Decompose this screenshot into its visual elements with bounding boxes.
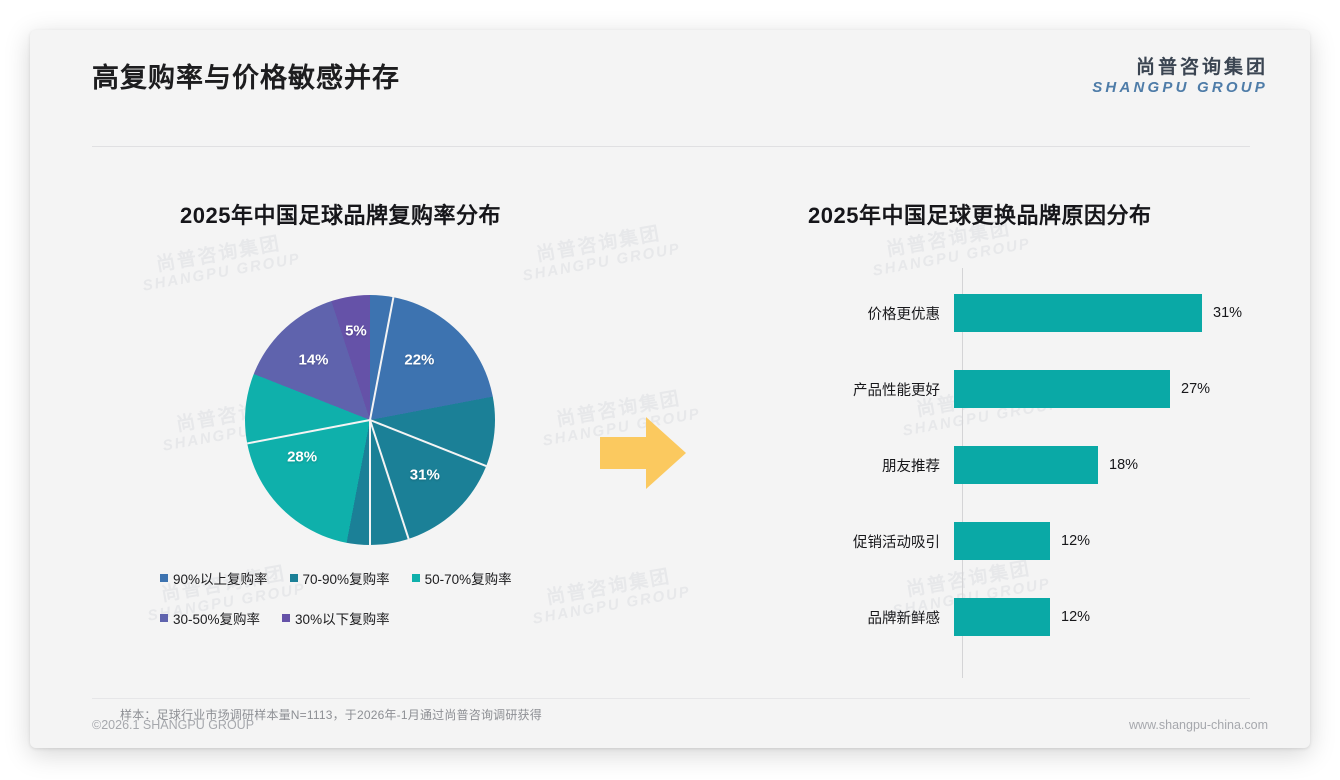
bar-category-label: 促销活动吸引	[730, 531, 954, 552]
bar-fill	[954, 370, 1170, 408]
footer-divider	[92, 698, 1250, 699]
legend-label: 70-90%复购率	[303, 568, 390, 588]
legend-swatch	[290, 574, 298, 582]
bar-row[interactable]: 品牌新鲜感12%	[730, 596, 1290, 638]
pie-chart: 22%31%28%14%5%	[245, 295, 495, 545]
bar-row[interactable]: 朋友推荐18%	[730, 444, 1290, 486]
bar-row[interactable]: 促销活动吸引12%	[730, 520, 1290, 562]
slide-header: 高复购率与价格敏感并存 尚普咨询集团 SHANGPU GROUP	[30, 30, 1310, 122]
legend-row: 30-50%复购率30%以下复购率	[160, 608, 640, 628]
bar-value-label: 31%	[1213, 305, 1242, 321]
pie-slice-label: 28%	[287, 449, 317, 466]
page-title: 高复购率与价格敏感并存	[92, 56, 400, 95]
legend-item[interactable]: 70-90%复购率	[290, 568, 390, 588]
legend-label: 50-70%复购率	[425, 568, 512, 588]
bar-category-label: 价格更优惠	[730, 303, 954, 324]
bar-fill	[954, 294, 1202, 332]
logo-cn-text: 尚普咨询集团	[1092, 58, 1268, 79]
legend-label: 30%以下复购率	[295, 608, 390, 628]
legend-label: 30-50%复购率	[173, 608, 260, 628]
pie-slice-label: 14%	[299, 351, 329, 368]
pie-chart-title: 2025年中国足球品牌复购率分布	[180, 198, 501, 230]
legend-swatch	[282, 614, 290, 622]
pie-chart-panel: 2025年中国足球品牌复购率分布 22%31%28%14%5% 90%以上复购率…	[140, 190, 660, 680]
legend-swatch	[160, 574, 168, 582]
bar-category-label: 朋友推荐	[730, 455, 954, 476]
bar-chart-title: 2025年中国足球更换品牌原因分布	[808, 198, 1151, 230]
bar-value-label: 12%	[1061, 609, 1090, 625]
legend-item[interactable]: 90%以上复购率	[160, 568, 268, 588]
legend-item[interactable]: 30-50%复购率	[160, 608, 260, 628]
pie-slice-label: 22%	[404, 352, 434, 369]
legend-swatch	[160, 614, 168, 622]
bar-chart-panel: 2025年中国足球更换品牌原因分布 价格更优惠31%产品性能更好27%朋友推荐1…	[730, 190, 1290, 680]
brand-logo: 尚普咨询集团 SHANGPU GROUP	[1092, 58, 1268, 98]
legend-swatch	[412, 574, 420, 582]
header-divider	[92, 146, 1250, 147]
legend-item[interactable]: 50-70%复购率	[412, 568, 512, 588]
copyright-text: ©2026.1 SHANGPU GROUP	[92, 718, 254, 732]
legend-item[interactable]: 30%以下复购率	[282, 608, 390, 628]
bar-category-label: 品牌新鲜感	[730, 607, 954, 628]
bar-chart: 价格更优惠31%产品性能更好27%朋友推荐18%促销活动吸引12%品牌新鲜感12…	[730, 268, 1290, 678]
right-arrow-icon	[600, 415, 686, 491]
legend-row: 90%以上复购率70-90%复购率50-70%复购率	[160, 568, 640, 588]
legend-label: 90%以上复购率	[173, 568, 268, 588]
bar-row[interactable]: 产品性能更好27%	[730, 368, 1290, 410]
bar-row[interactable]: 价格更优惠31%	[730, 292, 1290, 334]
bar-value-label: 12%	[1061, 533, 1090, 549]
website-link[interactable]: www.shangpu-china.com	[1129, 718, 1268, 732]
pie-slice-label: 31%	[410, 466, 440, 483]
bar-fill	[954, 598, 1050, 636]
logo-en-text: SHANGPU GROUP	[1092, 79, 1268, 98]
slide-footer: ©2026.1 SHANGPU GROUP www.shangpu-china.…	[30, 706, 1310, 748]
pie-legend: 90%以上复购率70-90%复购率50-70%复购率 30-50%复购率30%以…	[160, 568, 640, 648]
pie-slice-divider	[369, 420, 371, 545]
bar-fill	[954, 446, 1098, 484]
bar-fill	[954, 522, 1050, 560]
slide-card: 尚普咨询集团 SHANGPU GROUP 尚普咨询集团 SHANGPU GROU…	[30, 30, 1310, 748]
bar-value-label: 27%	[1181, 381, 1210, 397]
bar-category-label: 产品性能更好	[730, 379, 954, 400]
pie-slice-label: 5%	[345, 323, 367, 340]
bar-value-label: 18%	[1109, 457, 1138, 473]
